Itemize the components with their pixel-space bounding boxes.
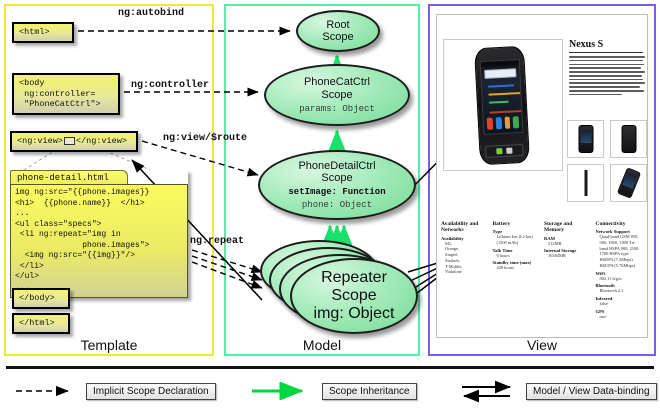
scope-root-title-line2: Scope xyxy=(322,31,353,43)
scope-phonecatctrl-property-params: params: Object xyxy=(299,104,375,114)
scope-repeater-property-img: img: Object xyxy=(314,305,395,323)
thumbnail-row xyxy=(567,164,647,202)
scope-phonecatctrl: PhoneCatCtrl Scope params: Object xyxy=(264,64,410,126)
phone-hero-image xyxy=(443,39,563,171)
spec-column-storage: Storage and Memory RAM 512MB Internal St… xyxy=(544,221,592,320)
legend-dashed-arrow-icon xyxy=(14,382,80,400)
app-icon-2 xyxy=(495,117,501,129)
template-filename: phone-detail.html xyxy=(10,170,128,184)
screen-graphic-line-1 xyxy=(488,84,514,87)
spec-value: 512MB xyxy=(544,241,592,247)
spec-value: HSUPA (5.76Mbps) xyxy=(596,263,644,269)
desc-line xyxy=(569,94,622,96)
desc-line xyxy=(569,64,644,66)
spec-value: (1500 mAh) xyxy=(493,240,541,246)
phone-button-bar xyxy=(485,144,524,158)
spec-header: Storage and Memory xyxy=(544,221,592,234)
search-widget-icon xyxy=(484,68,516,79)
spec-header: Availability and Networks xyxy=(441,221,489,234)
template-source-code: img ng:src="{{phone.images}} <h1> {{phon… xyxy=(10,184,188,298)
scope-repeater: Repeater Scope img: Object xyxy=(290,258,418,334)
desc-line xyxy=(569,60,643,62)
legend: Implicit Scope Declaration Scope Inherit… xyxy=(6,378,654,412)
spec-value: Vodafone xyxy=(441,269,489,275)
scope-phonedetailctrl: PhoneDetailCtrl Scope setImage: Function… xyxy=(258,150,416,220)
phone-thumb-icon xyxy=(616,167,640,199)
scope-repeater-stack: Repeater Scope img: Object xyxy=(260,238,420,338)
edge-label-ng-controller: ng:controller xyxy=(131,80,209,91)
scope-phonedetailctrl-title-line1: PhoneDetailCtrl xyxy=(298,160,375,172)
scope-root-title-line1: Root xyxy=(326,19,349,31)
screen-graphic-line-3 xyxy=(489,101,509,104)
legend-item-scope-inheritance: Scope Inheritance xyxy=(250,382,417,400)
spec-value: Bluetooth 2.1 xyxy=(596,288,644,294)
scope-phonecatctrl-title-line1: PhoneCatCtrl xyxy=(304,76,370,88)
spec-value: 428 hours xyxy=(493,265,541,271)
template-phone-detail: phone-detail.html img ng:src="{{phone.im… xyxy=(10,170,188,298)
desc-line xyxy=(569,79,643,81)
phone-button-call-icon xyxy=(496,148,502,154)
app-icon-3 xyxy=(504,117,510,129)
ngview-close-tag: </ng:view> xyxy=(76,136,127,146)
legend-label: Scope Inheritance xyxy=(322,383,417,400)
desc-line xyxy=(569,75,642,77)
scope-phonedetailctrl-title-line2: Scope xyxy=(321,172,352,184)
phone-thumb-icon xyxy=(621,125,636,153)
view-placeholder-icon xyxy=(64,137,75,145)
phone-thumb-icon xyxy=(584,170,587,196)
scope-root: Root Scope xyxy=(296,10,380,52)
spec-value: 900, 1800, 1900 Tri- xyxy=(596,240,644,246)
desc-line xyxy=(569,86,640,88)
scope-repeater-title-line1: Repeater xyxy=(321,269,387,287)
edge-label-ng-autobind: ng:autobind xyxy=(118,8,184,19)
thumbnail-angled[interactable] xyxy=(610,164,647,202)
desc-line xyxy=(569,67,641,69)
rendered-view-page: Nexus S xyxy=(436,14,648,338)
product-title: Nexus S xyxy=(569,39,603,50)
phone-button-menu-icon xyxy=(506,148,512,154)
desc-line xyxy=(569,56,645,58)
title-divider xyxy=(569,52,643,53)
edge-label-ng-view-route: ng:view/$route xyxy=(163,133,247,144)
phone-thumb-icon xyxy=(578,125,593,153)
thumbnail-row xyxy=(567,120,647,158)
spec-value: 6 hours xyxy=(493,253,541,259)
screen-graphic-line-2 xyxy=(488,92,520,96)
thumbnail-side[interactable] xyxy=(567,164,604,202)
desc-line xyxy=(569,82,645,84)
legend-label: Model / View Data-binding xyxy=(526,383,657,400)
code-ng-view: <ng:view></ng:view> xyxy=(10,131,138,152)
legend-item-model-view-data-binding: Model / View Data-binding xyxy=(460,378,657,404)
legend-label: Implicit Scope Declaration xyxy=(86,383,216,400)
spec-value: 802.11 b/g/n xyxy=(596,276,644,282)
code-html-close: </html> xyxy=(12,313,70,334)
status-bar xyxy=(481,60,519,67)
code-body-open: <body ng:controller= "PhoneCatCtrl"> xyxy=(12,73,120,115)
app-icon-row xyxy=(487,116,520,130)
screen-graphic-line-4 xyxy=(489,110,523,114)
scope-phonedetailctrl-property-setimage: setImage: Function xyxy=(288,187,385,197)
app-icon-4 xyxy=(513,116,519,128)
spec-header: Connectivity xyxy=(596,221,644,227)
legend-item-implicit-scope-declaration: Implicit Scope Declaration xyxy=(14,382,216,400)
thumbnail-front[interactable] xyxy=(567,120,604,158)
phone-device-illustration xyxy=(474,46,530,165)
scope-repeater-title-line2: Scope xyxy=(331,287,376,305)
legend-double-arrow-icon xyxy=(460,378,520,404)
spec-column-battery: Battery Type Lithium Ion (Li-Ion) (1500 … xyxy=(493,221,541,320)
specs-table: Availability and Networks Availability M… xyxy=(441,221,643,320)
desc-line xyxy=(569,90,644,92)
code-html-open: <html> xyxy=(12,22,74,43)
thumbnail-back[interactable] xyxy=(610,120,647,158)
scope-phonecatctrl-title-line2: Scope xyxy=(321,89,352,101)
spec-value: true xyxy=(596,314,644,320)
spec-column-availability: Availability and Networks Availability M… xyxy=(441,221,489,320)
scope-phonedetailctrl-property-phone: phone: Object xyxy=(302,200,372,210)
desc-line xyxy=(569,71,645,73)
thumbnail-gallery[interactable] xyxy=(567,120,647,208)
edge-label-ng-repeat: ng:repeat xyxy=(190,236,244,247)
legend-divider xyxy=(6,366,654,369)
ngview-open-tag: <ng:view> xyxy=(17,136,63,146)
spec-value: 16384MB xyxy=(544,253,592,259)
app-icon-1 xyxy=(487,118,493,130)
legend-green-arrow-icon xyxy=(250,382,316,400)
phone-screen xyxy=(480,59,524,135)
code-body-close: </body> xyxy=(12,288,70,309)
product-description-text xyxy=(569,56,645,98)
diagram-canvas: <html> <body ng:controller= "PhoneCatCtr… xyxy=(0,0,660,420)
spec-value: false xyxy=(596,301,644,307)
spec-column-connectivity: Connectivity Network Support Quad-band G… xyxy=(596,221,644,320)
spec-header: Battery xyxy=(493,221,541,227)
